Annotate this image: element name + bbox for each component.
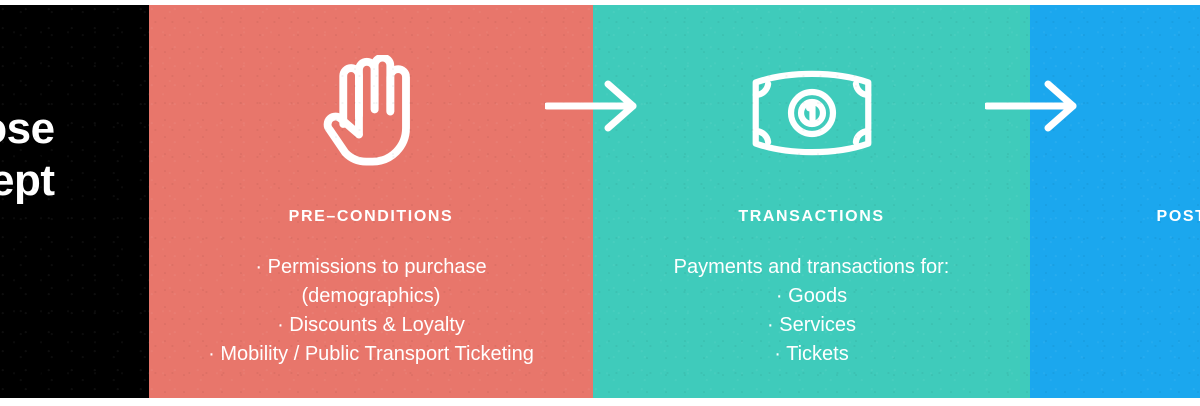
list-item: (demographics)	[149, 282, 593, 311]
arrow-right-icon	[985, 78, 1081, 134]
stage-heading-post-conditions: POST–CONDITIONS	[1030, 208, 1200, 226]
stage-transactions: TRANSACTIONS Payments and transactions f…	[593, 5, 1030, 398]
list-item: · Mobility / Public Transport Ticketing	[149, 340, 593, 369]
list-item: · Permissions to purchase	[149, 253, 593, 282]
banknote-icon	[593, 55, 1030, 170]
intro-heading-line2: Concept	[0, 156, 55, 205]
stage-heading-transactions: TRANSACTIONS	[593, 208, 1030, 226]
intro-panel: PurposeConcept Information	[0, 5, 149, 398]
list-item: · Tickets	[593, 340, 1030, 369]
intro-heading-line1: Purpose	[0, 104, 55, 153]
stage-heading-pre-conditions: PRE–CONDITIONS	[149, 208, 593, 226]
stage-body-pre-conditions: · Permissions to purchase (demographics)…	[149, 253, 593, 369]
intro-subtitle: Information	[0, 255, 144, 280]
list-item: · Services	[593, 311, 1030, 340]
list-item: · Goods	[593, 282, 1030, 311]
hand-stop-icon	[149, 55, 593, 170]
stage-body-transactions: Payments and transactions for: · Goods ·…	[593, 253, 1030, 369]
stage-post-conditions: POST–CONDITIONS · Data	[1030, 5, 1200, 398]
arrow-right-icon	[545, 78, 641, 134]
intro-heading: PurposeConcept	[0, 103, 144, 207]
list-item: · Discounts & Loyalty	[149, 311, 593, 340]
list-item: · Data	[1030, 253, 1200, 282]
diagram-canvas: PurposeConcept Information PRE–CONDITION…	[0, 0, 1200, 406]
list-item: Payments and transactions for:	[593, 253, 1030, 282]
stage-pre-conditions: PRE–CONDITIONS · Permissions to purchase…	[149, 5, 593, 398]
stage-body-post-conditions: · Data	[1030, 253, 1200, 282]
